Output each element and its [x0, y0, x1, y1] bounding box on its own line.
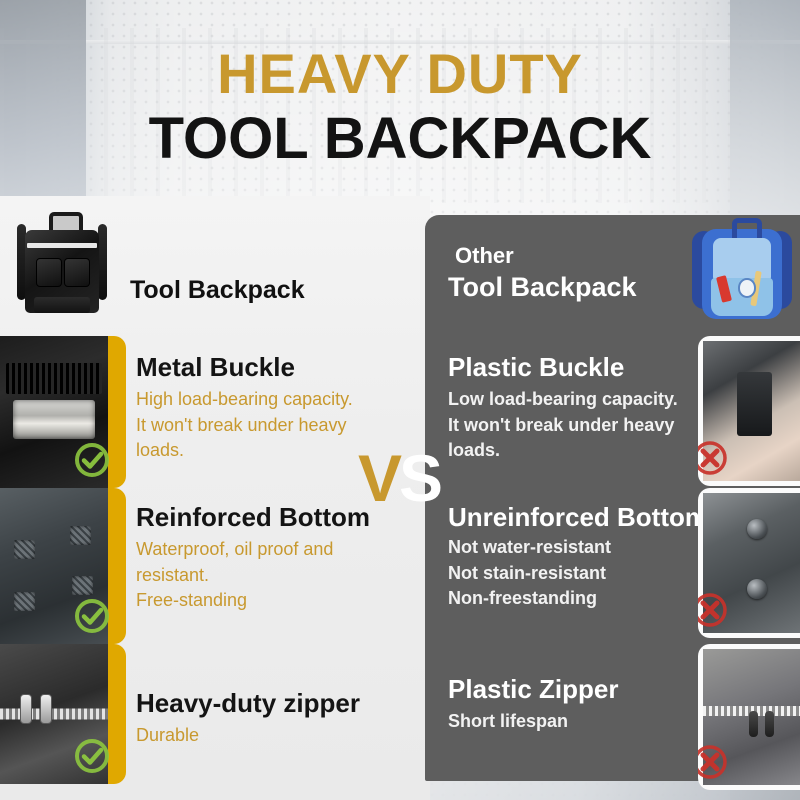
good-feature-desc-line: It won't break under heavy	[136, 413, 366, 439]
bad-feature-heading: Plastic Zipper	[448, 676, 718, 703]
red-cross-badge	[698, 590, 730, 630]
red-cross-badge	[698, 742, 730, 782]
versus-s: S	[399, 441, 440, 515]
good-feature-desc-line: High load-bearing capacity.	[136, 387, 366, 413]
good-feature-desc-line: resistant.	[136, 563, 366, 589]
lightbulb-icon	[738, 278, 756, 297]
title-heavy-duty: HEAVY DUTY	[0, 46, 800, 102]
bottom-stud	[70, 526, 91, 545]
good-feature-desc-line: loads.	[136, 438, 366, 464]
zipper-teeth	[0, 709, 108, 720]
bad-feature-desc-line: loads.	[448, 438, 718, 464]
good-feature-heading: Heavy-duty zipper	[136, 690, 366, 717]
backpack-handle	[49, 212, 83, 230]
good-product-label: Tool Backpack	[130, 276, 305, 305]
front-pocket-right	[64, 258, 90, 287]
green-check-badge	[72, 736, 112, 776]
good-feature-heading: Metal Buckle	[136, 354, 366, 381]
bad-feature-text: Unreinforced Bottom Not water-resistant …	[448, 488, 718, 612]
bad-feature-desc-line: Not water-resistant	[448, 535, 718, 561]
blue-backpack-illustration	[688, 210, 796, 328]
bad-photo-tile	[698, 488, 800, 638]
bad-feature-desc-line: Non-freestanding	[448, 586, 718, 612]
good-photo-tile	[0, 644, 126, 784]
green-check-badge	[72, 596, 112, 636]
bad-feature-text: Plastic Zipper Short lifespan	[448, 644, 718, 735]
zipper-pull	[20, 694, 32, 724]
bottom-stud	[14, 540, 35, 559]
zipper-pull	[749, 711, 758, 737]
good-feature-desc-line: Durable	[136, 723, 366, 749]
zipper-pull	[40, 694, 52, 724]
bad-feature-desc-line: Not stain-resistant	[448, 561, 718, 587]
feature-row-zipper: Heavy-duty zipper Durable Plastic Zipper…	[0, 644, 800, 800]
other-product-image	[688, 210, 796, 328]
good-feature-text: Metal Buckle High load-bearing capacity.…	[136, 336, 366, 464]
good-feature-desc-line: Free-standing	[136, 588, 366, 614]
good-photo-tile	[0, 336, 126, 488]
bad-feature-heading: Plastic Buckle	[448, 354, 718, 381]
versus-badge: VS	[358, 445, 440, 511]
good-feature-desc-line: Waterproof, oil proof and	[136, 537, 366, 563]
good-feature-text: Heavy-duty zipper Durable	[136, 644, 366, 749]
other-product-label-line1: Other	[455, 243, 514, 269]
snap-button	[747, 579, 767, 599]
green-check-badge	[72, 440, 112, 480]
good-feature-text: Reinforced Bottom Waterproof, oil proof …	[136, 488, 366, 614]
bad-photo-tile	[698, 644, 800, 790]
bad-photo-tile	[698, 336, 800, 486]
strap-right	[98, 224, 108, 300]
good-feature-heading: Reinforced Bottom	[136, 504, 366, 531]
bad-feature-heading: Unreinforced Bottom	[448, 504, 718, 531]
infographic-root: HEAVY DUTY TOOL BACKPACK Tool Backpack	[0, 0, 800, 800]
snap-button	[747, 519, 767, 539]
backpack-base	[34, 297, 90, 312]
bad-feature-desc-line: Short lifespan	[448, 709, 718, 735]
bad-feature-text: Plastic Buckle Low load-bearing capacity…	[448, 336, 718, 464]
backpack-reflective-band	[27, 243, 96, 248]
front-pocket-left	[36, 258, 62, 287]
black-backpack-illustration	[8, 204, 116, 322]
bottom-stud	[14, 592, 35, 611]
comparison-body: Tool Backpack Other Tool Backpack VS	[0, 196, 800, 800]
blue-backpack-handle	[732, 218, 761, 238]
red-cross-badge	[698, 438, 730, 478]
bad-feature-desc-line: It won't break under heavy	[448, 413, 718, 439]
versus-v: V	[358, 441, 399, 515]
blue-backpack-flap	[713, 238, 771, 280]
header: HEAVY DUTY TOOL BACKPACK	[0, 0, 800, 196]
other-product-label-line2: Tool Backpack	[448, 272, 637, 303]
good-photo-tile	[0, 488, 126, 644]
zipper-pull	[765, 711, 774, 737]
bottom-stud	[72, 576, 93, 595]
title-tool-backpack: TOOL BACKPACK	[0, 110, 800, 168]
bad-feature-desc-line: Low load-bearing capacity.	[448, 387, 718, 413]
good-product-image	[8, 204, 116, 322]
